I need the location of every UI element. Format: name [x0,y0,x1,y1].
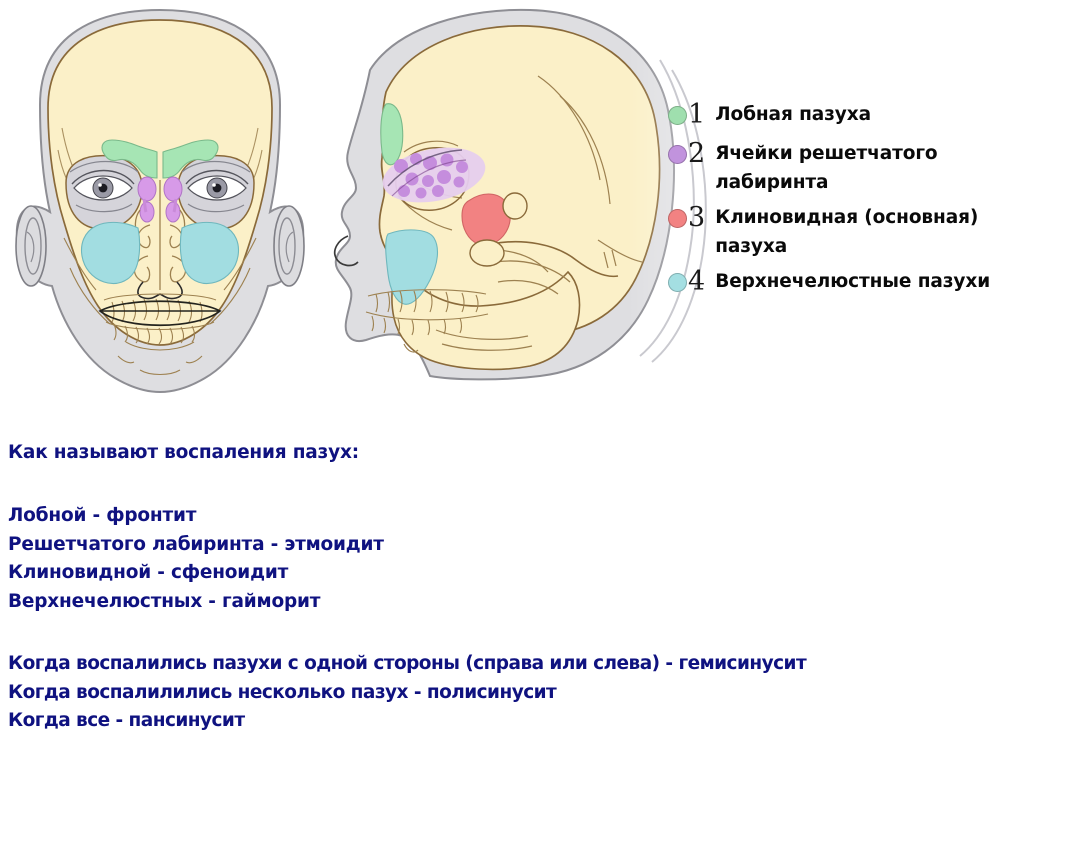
inflammation-line-maxillary: Верхнечелюстных - гайморит [8,588,1048,617]
legend-item-1: 1 Лобная пазуха [668,100,1068,129]
legend-label-ethmoid-cells: Ячейки решетчатого лабиринта [715,139,981,197]
legend-number-2: 2 [688,139,705,168]
legend-item-4: 4 Верхнечелюстные пазухи [668,267,1068,296]
legend-number-1: 1 [688,100,705,129]
explanatory-text-block: Как называют воспаления пазух: Лобной - … [8,440,1048,736]
extent-line-pansinusitis: Когда все - пансинусит [8,707,1048,736]
legend-label-frontal-sinus: Лобная пазуха [715,100,871,129]
text-spacer [8,616,1048,650]
legend: 1 Лобная пазуха 2 Ячейки решетчатого лаб… [668,100,1068,300]
text-heading: Как называют воспаления пазух: [8,440,1048,466]
legend-color-swatch-3 [668,209,687,228]
inflammation-line-ethmoid: Решетчатого лабиринта - этмоидит [8,531,1048,560]
extent-line-polysinusitis: Когда воспалилились несколько пазух - по… [8,679,1048,708]
inflammation-line-sphenoid: Клиновидной - сфеноидит [8,559,1048,588]
legend-color-swatch-2 [668,145,687,164]
legend-color-swatch-4 [668,273,687,292]
lateral-foramen-1 [503,193,527,219]
legend-label-maxillary-sinuses: Верхнечелюстные пазухи [715,267,990,296]
lateral-frontal-sinus [381,104,403,165]
frontal-skull-view [16,10,304,392]
legend-label-sphenoid-sinus: Клиновидная (основная) пазуха [715,203,1033,261]
legend-item-3: 3 Клиновидная (основная) пазуха [668,203,1068,261]
inflammation-line-frontal: Лобной - фронтит [8,502,1048,531]
legend-number-3: 3 [688,203,705,232]
legend-item-2: 2 Ячейки решетчатого лабиринта [668,139,1068,197]
lateral-foramen-2 [470,240,504,266]
extent-line-hemisinusitis: Когда воспалились пазухи с одной стороны… [8,650,1048,679]
legend-color-swatch-1 [668,106,687,125]
legend-number-4: 4 [688,267,705,296]
